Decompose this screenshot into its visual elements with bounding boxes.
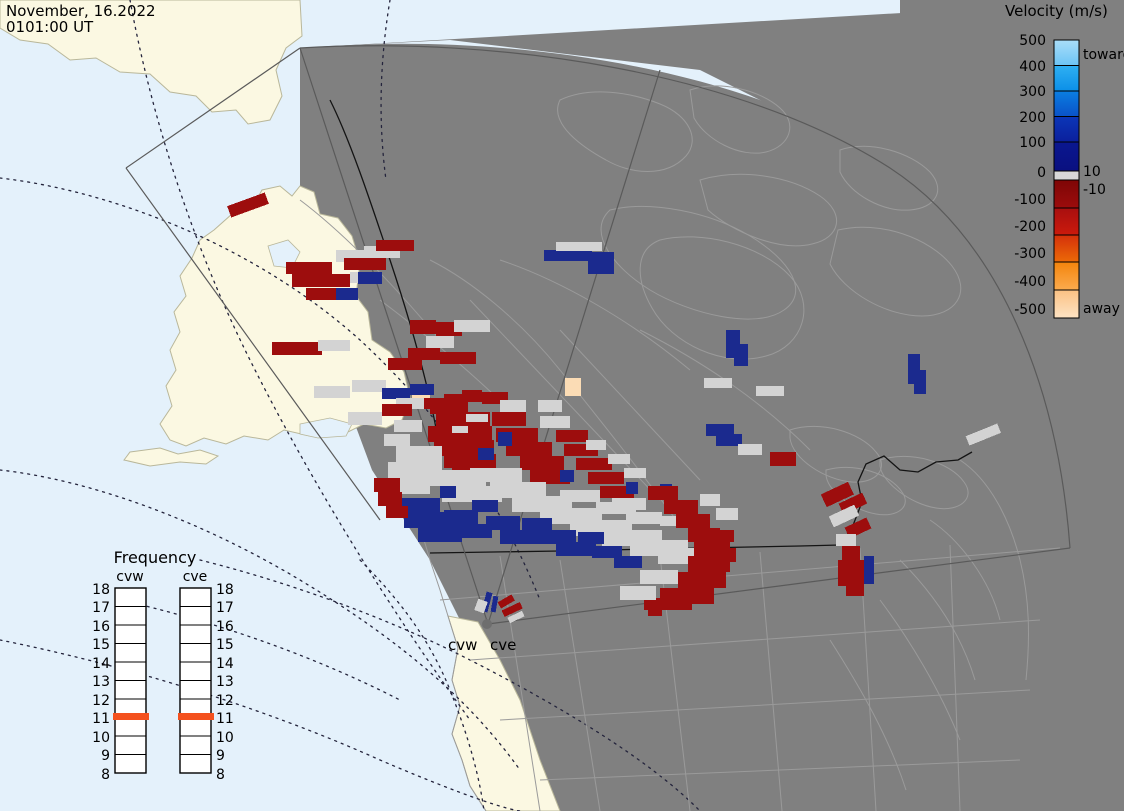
- frequency-tick-right-5: 13: [216, 674, 234, 690]
- frequency-tick-left-5: 13: [92, 674, 110, 690]
- colorbar-minus10-label: -10: [1083, 182, 1106, 198]
- colorbar-seg-100-0: [1054, 142, 1079, 171]
- frequency-tick-left-6: 12: [92, 693, 110, 709]
- frequency-tick-right-2: 16: [216, 619, 234, 635]
- frequency-col-label-cve: cve: [183, 569, 208, 585]
- frequency-tick-left-7: 11: [92, 711, 110, 727]
- frequency-tick-right-6: 12: [216, 693, 234, 709]
- frequency-tick-left-8: 10: [92, 730, 110, 746]
- frequency-tick-left-10: 8: [101, 767, 110, 783]
- frequency-marker-cve: [178, 713, 214, 720]
- colorbar-tick-9: -400: [1014, 274, 1046, 290]
- frequency-title: Frequency: [114, 548, 197, 567]
- frequency-tick-right-10: 8: [216, 767, 225, 783]
- colorbar-seg-200-100: [1054, 117, 1079, 143]
- colorbar-tick-7: -200: [1014, 219, 1046, 235]
- radar-site-dot: [482, 619, 492, 629]
- frequency-marker-cvw: [113, 713, 149, 720]
- colorbar-tick-10: -500: [1014, 302, 1046, 318]
- frequency-tick-right-0: 18: [216, 582, 234, 598]
- frequency-tick-left-9: 9: [101, 748, 110, 764]
- colorbar-seg-300-200: [1054, 91, 1079, 117]
- frequency-tick-left-4: 14: [92, 656, 110, 672]
- frequency-tick-left-2: 16: [92, 619, 110, 635]
- colorbar-tick-4: 100: [1019, 135, 1046, 151]
- frequency-tick-right-4: 14: [216, 656, 234, 672]
- colorbar-seg-400-300: [1054, 66, 1079, 92]
- colorbar-seg-500-400: [1054, 40, 1079, 66]
- frequency-bar-cvw[interactable]: [113, 588, 149, 773]
- colorbar-seg-m300-m400: [1054, 262, 1079, 290]
- time-label: 0101:00 UT: [6, 18, 94, 36]
- frequency-tick-left-3: 15: [92, 637, 110, 653]
- colorbar-seg-m400-m500: [1054, 290, 1079, 318]
- frequency-tick-right-7: 11: [216, 711, 234, 727]
- colorbar-seg-m100-m200: [1054, 208, 1079, 235]
- frequency-tick-right-8: 10: [216, 730, 234, 746]
- colorbar-tick-8: -300: [1014, 246, 1046, 262]
- colorbar-tick-3: 200: [1019, 110, 1046, 126]
- frequency-col-label-cvw: cvw: [116, 569, 143, 585]
- colorbar-seg-m200-m300: [1054, 235, 1079, 262]
- colorbar-tick-1: 400: [1019, 59, 1046, 75]
- frequency-tick-left-0: 18: [92, 582, 110, 598]
- colorbar-seg-0-m100: [1054, 180, 1079, 208]
- colorbar-seg-zero-gap: [1054, 171, 1079, 180]
- colorbar-toward-label: toward: [1083, 47, 1124, 63]
- site-label-cve: cve: [490, 636, 516, 654]
- colorbar-title: Velocity (m/s): [1005, 2, 1108, 20]
- colorbar-tick-0: 500: [1019, 33, 1046, 49]
- colorbar-tick-2: 300: [1019, 84, 1046, 100]
- colorbar-plus10-label: 10: [1083, 164, 1101, 180]
- colorbar-tick-5: 0: [1037, 165, 1046, 181]
- frequency-tick-right-1: 17: [216, 600, 234, 616]
- frequency-tick-left-1: 17: [92, 600, 110, 616]
- colorbar-away-label: away: [1083, 301, 1120, 317]
- radar-map-figure: November, 16.2022 0101:00 UT cvw cve Vel…: [0, 0, 1124, 811]
- colorbar-tick-6: -100: [1014, 192, 1046, 208]
- map-canvas: November, 16.2022 0101:00 UT cvw cve Vel…: [0, 0, 1124, 811]
- frequency-bar-cve[interactable]: [178, 588, 214, 773]
- site-label-cvw: cvw: [448, 636, 477, 654]
- frequency-tick-right-9: 9: [216, 748, 225, 764]
- frequency-tick-right-3: 15: [216, 637, 234, 653]
